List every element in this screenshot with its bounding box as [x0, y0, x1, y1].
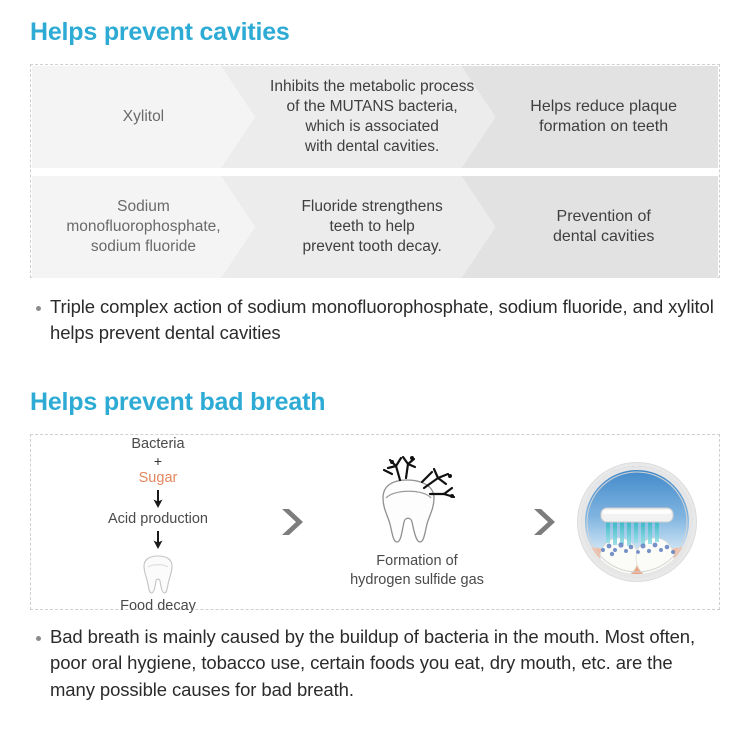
flow-step-label: Sodium monofluorophosphate, sodium fluor… [66, 197, 220, 256]
arrow-down-icon [152, 490, 164, 508]
flow-row-fluoride: Sodium monofluorophosphate, sodium fluor… [32, 176, 718, 278]
bullet-bad-breath-text: Bad breath is mainly caused by the build… [50, 624, 722, 703]
tooth-with-gas-icon [362, 454, 472, 550]
hydrogen-sulfide-step: Formation of hydrogen sulfide gas [322, 454, 512, 590]
flow-row-xylitol: Xylitol Inhibits the metabolic process o… [32, 66, 718, 168]
bad-breath-diagram-row: Bacteria + Sugar Acid production Food de… [32, 436, 718, 608]
cavities-flow-diagram: Xylitol Inhibits the metabolic process o… [30, 64, 720, 278]
decay-chain-acid-label: Acid production [108, 511, 208, 528]
decay-chain: Bacteria + Sugar Acid production Food de… [48, 430, 268, 615]
flow-step-fluoride-result: Prevention of dental cavities [461, 176, 718, 278]
decay-chain-bacteria-label: Bacteria [131, 436, 184, 453]
decay-chain-sugar-label: Sugar [139, 470, 178, 487]
bad-breath-flow-diagram: Bacteria + Sugar Acid production Food de… [30, 434, 720, 610]
flow-step-xylitol-result: Helps reduce plaque formation on teeth [461, 66, 718, 168]
bullet-cavities-text: Triple complex action of sodium monofluo… [50, 294, 722, 347]
chevron-right-icon [280, 506, 306, 538]
arrow-down-icon [152, 531, 164, 549]
section-heading-bad-breath: Helps prevent bad breath [30, 388, 325, 417]
flow-step-fluoride-action: Fluoride strengthens teeth to help preve… [221, 176, 495, 278]
chevron-right-icon [532, 506, 558, 538]
flow-step-label: Inhibits the metabolic process of the MU… [270, 77, 474, 156]
tooth-icon [141, 554, 175, 596]
bullet-dot-icon [36, 306, 41, 311]
flow-step-label: Fluoride strengthens teeth to help preve… [301, 197, 442, 256]
bullet-bad-breath: Bad breath is mainly caused by the build… [36, 624, 722, 703]
bullet-cavities: Triple complex action of sodium monofluo… [36, 294, 722, 347]
hydrogen-sulfide-caption: Formation of hydrogen sulfide gas [350, 552, 484, 590]
decay-chain-plus-sign: + [154, 454, 162, 468]
flow-step-fluoride-input: Sodium monofluorophosphate, sodium fluor… [32, 176, 255, 278]
section-heading-cavities: Helps prevent cavities [30, 18, 290, 47]
flow-step-label: Prevention of dental cavities [553, 207, 654, 248]
bullet-dot-icon [36, 636, 41, 641]
flow-step-label: Helps reduce plaque formation on teeth [530, 97, 677, 138]
flow-step-label: Xylitol [123, 107, 164, 127]
flow-step-xylitol-action: Inhibits the metabolic process of the MU… [221, 66, 495, 168]
decay-chain-food-decay-label: Food decay [120, 598, 196, 615]
toothbrush-brushing-teeth-icon [578, 463, 696, 581]
infographic-page: Helps prevent cavities Xylitol Inhibits … [0, 0, 750, 734]
flow-step-xylitol-input: Xylitol [32, 66, 255, 168]
